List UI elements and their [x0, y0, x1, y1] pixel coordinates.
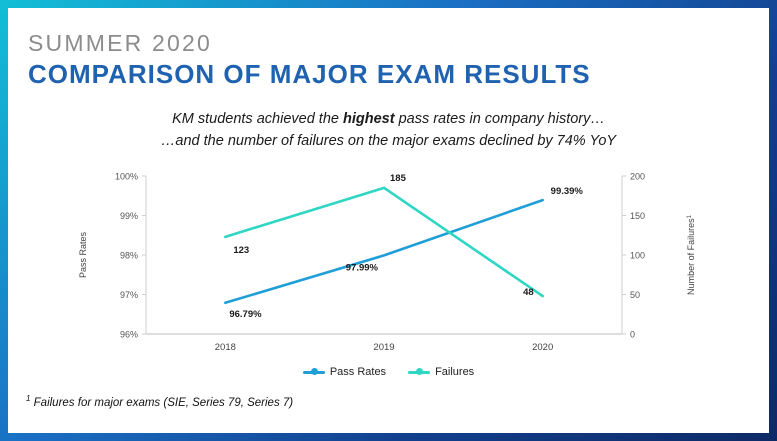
svg-text:0: 0 [630, 330, 635, 340]
svg-text:200: 200 [630, 172, 645, 182]
slide-content: SUMMER 2020 COMPARISON OF MAJOR EXAM RES… [8, 8, 769, 433]
svg-text:96%: 96% [120, 330, 138, 340]
legend-item-pass-rates[interactable]: Pass Rates [303, 366, 386, 378]
svg-text:123: 123 [233, 245, 249, 256]
svg-text:Pass Rates: Pass Rates [78, 231, 88, 278]
svg-text:98%: 98% [120, 251, 138, 261]
subtitle-line-1-emphasis: highest [343, 111, 395, 127]
svg-text:97.99%: 97.99% [346, 262, 379, 273]
svg-text:100%: 100% [115, 172, 138, 182]
svg-text:97%: 97% [120, 290, 138, 300]
svg-text:48: 48 [523, 287, 534, 298]
chart-legend: Pass Rates Failures [8, 366, 769, 378]
svg-text:Number of Failures1: Number of Failures1 [686, 214, 696, 295]
svg-text:2020: 2020 [532, 342, 553, 353]
legend-label-failures: Failures [435, 366, 474, 378]
footnote: 1 Failures for major exams (SIE, Series … [26, 394, 293, 409]
subtitle-line-1-part-c: pass rates in company history… [395, 111, 605, 127]
slide-subtitle: KM students achieved the highest pass ra… [8, 108, 769, 152]
legend-item-failures[interactable]: Failures [408, 366, 474, 378]
svg-text:50: 50 [630, 290, 640, 300]
footnote-text: Failures for major exams (SIE, Series 79… [30, 397, 293, 409]
svg-text:2019: 2019 [373, 342, 394, 353]
legend-label-pass-rates: Pass Rates [330, 366, 386, 378]
slide-kicker: SUMMER 2020 [28, 30, 212, 57]
exam-results-chart: 96%97%98%99%100%050100150200201820192020… [68, 168, 708, 383]
svg-text:100: 100 [630, 251, 645, 261]
page-title: COMPARISON OF MAJOR EXAM RESULTS [28, 59, 591, 90]
svg-text:99.39%: 99.39% [551, 186, 584, 197]
legend-swatch-failures [408, 371, 430, 374]
svg-text:150: 150 [630, 211, 645, 221]
svg-text:185: 185 [390, 173, 407, 184]
svg-text:96.79%: 96.79% [229, 309, 262, 320]
legend-swatch-pass-rates [303, 371, 325, 374]
svg-text:99%: 99% [120, 211, 138, 221]
subtitle-line-1: KM students achieved the highest pass ra… [8, 108, 769, 130]
subtitle-line-1-part-a: KM students achieved the [172, 111, 343, 127]
svg-text:2018: 2018 [215, 342, 236, 353]
subtitle-line-2: …and the number of failures on the major… [8, 130, 769, 152]
slide: SUMMER 2020 COMPARISON OF MAJOR EXAM RES… [0, 0, 777, 441]
chart-svg: 96%97%98%99%100%050100150200201820192020… [68, 168, 708, 368]
